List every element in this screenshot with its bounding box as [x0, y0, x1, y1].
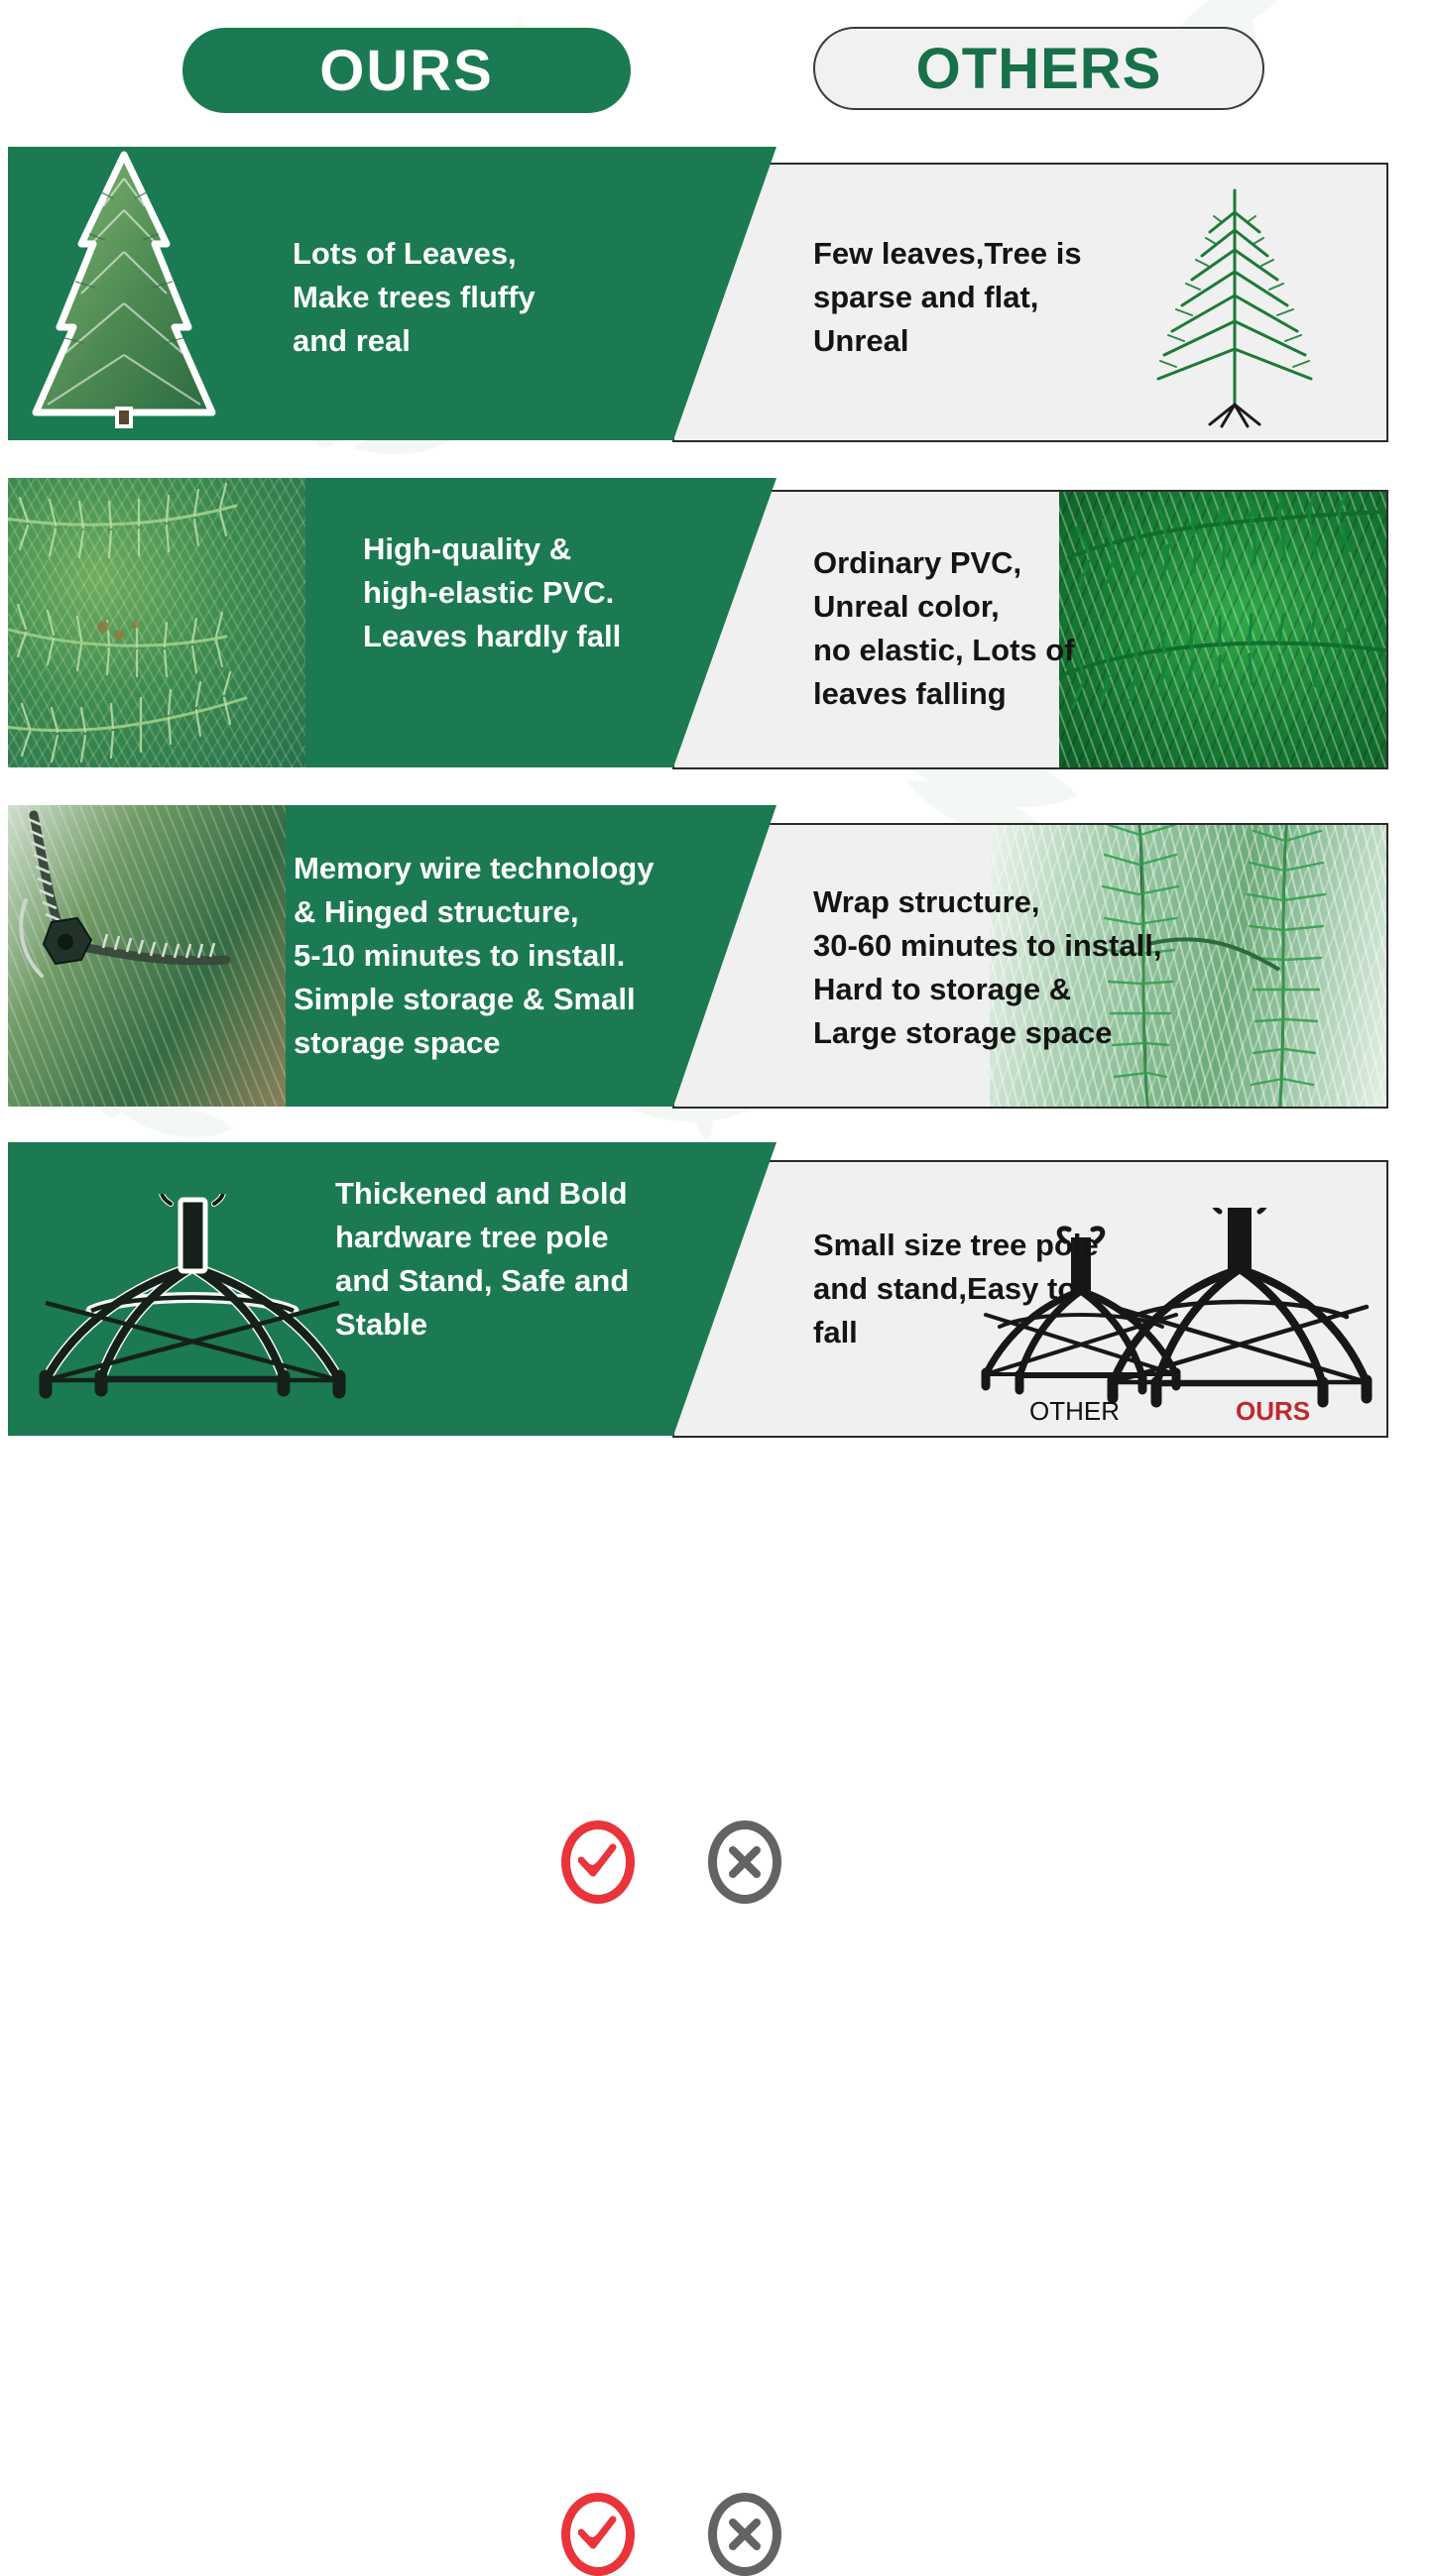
check-badge-icon — [561, 1820, 635, 1904]
others-header-pill: OTHERS — [813, 27, 1264, 110]
others-header-label: OTHERS — [916, 36, 1162, 102]
others-card: Wrap structure, 30-60 minutes to install… — [672, 823, 1388, 1109]
others-stand-caption-left: OTHER — [1029, 1396, 1120, 1426]
check-badge-icon — [561, 2493, 635, 2576]
cross-badge-icon — [708, 1820, 781, 1904]
others-row-text: Few leaves,Tree is sparse and flat, Unre… — [813, 232, 1082, 363]
comparison-row: Few leaves,Tree is sparse and flat, Unre… — [0, 147, 1433, 444]
cross-icon — [728, 2517, 762, 2551]
sparse-christmas-tree-photo — [1111, 175, 1359, 434]
cross-icon — [728, 1845, 762, 1879]
comparison-row: OTHER OURS Small size tree pole and stan… — [0, 1142, 1433, 1440]
ordinary-pvc-branch-closeup-photo — [1059, 492, 1386, 769]
comparison-row: Wrap structure, 30-60 minutes to install… — [0, 805, 1433, 1111]
ours-row-text: Lots of Leaves, Make trees fluffy and re… — [293, 232, 536, 363]
comparison-header: OURS OTHERS — [0, 0, 1433, 139]
others-card: OTHER OURS Small size tree pole and stan… — [672, 1160, 1388, 1438]
ours-card: Thickened and Bold hardware tree pole an… — [8, 1142, 776, 1436]
ours-header-pill: OURS — [182, 28, 631, 113]
full-christmas-tree-dense-photo — [18, 149, 231, 438]
comparison-row: Ordinary PVC, Unreal color, no elastic, … — [0, 478, 1433, 771]
check-icon — [578, 2516, 618, 2553]
others-row-text: Small size tree pole and stand,Easy to f… — [813, 1224, 1099, 1354]
others-card: Ordinary PVC, Unreal color, no elastic, … — [672, 490, 1388, 769]
ours-row-text: High-quality & high-elastic PVC. Leaves … — [363, 527, 621, 658]
others-card: Few leaves,Tree is sparse and flat, Unre… — [672, 163, 1388, 442]
realistic-pine-branch-closeup-photo — [8, 478, 305, 767]
ours-card: Memory wire technology & Hinged structur… — [8, 805, 776, 1107]
others-row-text: Wrap structure, 30-60 minutes to install… — [813, 880, 1161, 1055]
ours-card: High-quality & high-elastic PVC. Leaves … — [8, 478, 776, 767]
ours-card: Lots of Leaves, Make trees fluffy and re… — [8, 147, 776, 440]
ours-header-label: OURS — [319, 38, 494, 104]
heavy-duty-metal-tree-stand-photo — [22, 1194, 359, 1404]
cross-badge-icon — [708, 2493, 781, 2576]
others-stand-caption-right: OURS — [1236, 1396, 1310, 1426]
others-row-text: Ordinary PVC, Unreal color, no elastic, … — [813, 541, 1075, 716]
ours-row-text: Thickened and Bold hardware tree pole an… — [335, 1172, 629, 1347]
hinged-branch-memory-wire-photo — [8, 805, 286, 1107]
ours-row-text: Memory wire technology & Hinged structur… — [294, 847, 654, 1065]
check-icon — [578, 1843, 618, 1881]
